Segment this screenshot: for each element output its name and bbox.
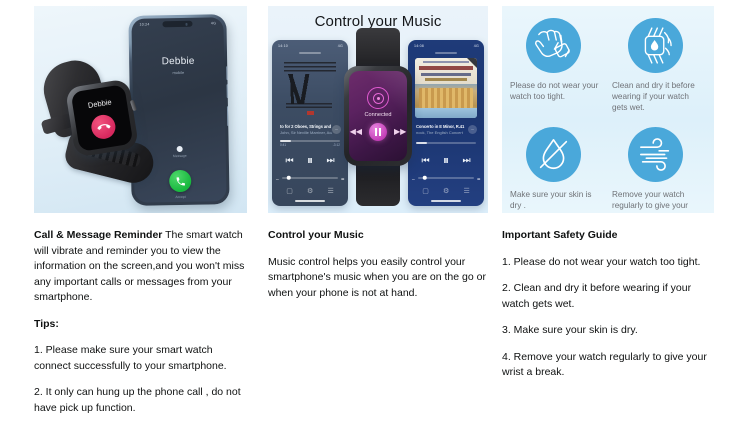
phone-left-times: 0:41 -3:12 [280,143,340,147]
phone-left-previous-button[interactable]: ⏮ [285,155,293,166]
lyrics-icon[interactable]: ⚙ [307,187,313,195]
decline-call-button[interactable] [90,113,117,140]
text-block-call-reminder: Call & Message Reminder The smart watch … [34,228,247,427]
phone-right-track-title: Concerto in E Minor, R.41 [416,124,468,129]
phone-right-pause-button[interactable]: ⏸ [443,153,449,168]
pause-icon [375,128,381,136]
accept-call-button[interactable] [169,170,191,192]
safety-tile-caption: Clean and dry it before wearing if your … [612,80,706,113]
safety-tile-grid: Please do not wear your watch too tight. [510,18,706,213]
watch-screen-music: Connected ◀◀ ▶▶ [349,71,407,161]
smartphone-mockup-right: 14:08 4G Concerto in E Minor, R.41 nock,… [408,40,484,206]
phone-left-time-elapsed: 0:41 [280,143,286,147]
phone-power-button[interactable] [227,106,229,126]
phone-right-previous-button[interactable]: ⏮ [421,155,429,166]
safety-tile-caption: Remove your watch regularly to give your… [612,189,706,213]
paragraph-lead: Call & Message Reminder The smart watch … [34,228,247,306]
smartwatch-mockup-music: Connected ◀◀ ▶▶ [344,28,412,206]
safety-tile-caption: Please do not wear your watch too tight. [510,80,604,102]
safety-tile-dry-skin: Make sure your skin is dry . [510,127,604,213]
image-panel-music-control: Control your Music 14:10 4G to for 2 Obo… [268,6,488,213]
watch-caller-name: Debbie [72,95,127,112]
heading-call-message-reminder: Call & Message Reminder [34,229,162,241]
sheet-grabber[interactable] [299,52,321,54]
safety-item-4: 4. Remove your watch regularly to give y… [502,350,714,381]
phone-left-status-time: 14:10 [278,44,288,48]
phone-right-status-time: 14:08 [414,44,424,48]
phone-volume-up-button[interactable] [226,66,228,80]
safety-tile-take-break: Remove your watch regularly to give your… [612,127,706,213]
album-art-line-2 [419,66,473,70]
hand-wearing-watch-icon [526,18,581,73]
album-art-red-mark [307,111,314,115]
album-art-bottom-text [286,103,332,109]
safety-item-1: 1. Please do not wear your watch too tig… [502,255,714,271]
queue-icon[interactable]: ☰ [328,187,334,195]
product-feature-page: 10:24 4G Debbie mobile Message Accept [0,0,737,414]
heading-important-safety-guide: Important Safety Guide [502,228,714,244]
watch-case: Debbie [65,78,139,157]
phone-notch [162,21,192,28]
volume-low-icon: ▁ [412,176,415,180]
album-art-line-4 [425,78,467,81]
volume-knob[interactable] [422,176,427,181]
volume-knob[interactable] [286,176,291,181]
phone-right-progress-bar[interactable] [416,142,476,144]
watch-connection-status: Connected [349,112,407,118]
phone-left-bottom-icons: ▢ ⚙ ☰ [272,187,348,195]
album-art-line-3 [421,73,471,76]
wind-airflow-glyph [628,127,683,182]
album-art-script [285,74,329,104]
album-art-line-1 [423,61,469,63]
phone-left-volume-slider[interactable]: ▁ ▃ [282,177,338,179]
phone-left-status-signal: 4G [338,44,343,48]
phone-right-volume-slider[interactable]: ▁ ▃ [418,177,474,179]
phone-left-pause-button[interactable]: ⏸ [307,153,313,168]
album-art-top-text [284,62,336,72]
safety-item-3: 3. Make sure your skin is dry. [502,323,714,339]
airplay-icon[interactable]: ▢ [422,187,429,195]
phone-decline-icon [96,119,111,134]
phone-right-transport-controls: ⏮ ⏸ ⏭ [408,153,484,168]
watch-case: Connected ◀◀ ▶▶ [344,66,412,166]
phone-right-status-signal: 4G [474,44,479,48]
phone-right-more-button[interactable]: ··· [468,125,477,134]
watch-crown-button[interactable] [130,100,137,112]
album-art-corner-fold [467,58,477,68]
album-art-right [415,58,477,118]
heading-control-your-music: Control your Music [268,228,488,244]
album-art-left [279,58,341,118]
no-water-drop-icon [526,127,581,182]
feature-column-important-safety-guide: Please do not wear your watch too tight. [502,0,714,414]
text-block-music-control: Control your Music Music control helps y… [268,228,488,312]
wind-airflow-icon [628,127,683,182]
phone-right-bottom-icons: ▢ ⚙ ☰ [408,187,484,195]
watch-water-drop-glyph [628,18,683,73]
phone-left-next-button[interactable]: ⏭ [326,155,334,166]
airplay-icon[interactable]: ▢ [286,187,293,195]
body-text-music: Music control helps you easily control y… [268,255,488,302]
album-art-water [415,108,477,118]
safety-item-2: 2. Clean and dry it before wearing if yo… [502,281,714,312]
smartwatch-mockup: Debbie [40,61,158,201]
tips-heading: Tips: [34,317,247,333]
watch-next-button[interactable]: ▶▶ [394,128,406,136]
hand-wearing-watch-glyph [526,18,581,73]
phone-status-time: 10:24 [139,23,149,27]
queue-icon[interactable]: ☰ [464,187,470,195]
tip-item-2: 2. It only can hung up the phone call , … [34,385,247,416]
watch-previous-button[interactable]: ◀◀ [350,128,362,136]
phone-left-track-title: to for 2 Oboes, Strings and Cor [280,124,332,129]
phone-right-next-button[interactable]: ⏭ [462,155,470,166]
sheet-grabber[interactable] [435,52,457,54]
feature-column-call-message-reminder: 10:24 4G Debbie mobile Message Accept [34,0,247,414]
phone-status-signal: 4G [211,21,217,25]
feature-column-control-your-music: Control your Music 14:10 4G to for 2 Obo… [268,0,488,414]
phone-left-track-artist: John, Sir Neville Marriner, Acade [280,130,332,135]
album-art-building [419,88,473,108]
watch-strap-bottom [356,162,400,206]
watch-water-drop-icon [628,18,683,73]
safety-tile-clean-and-dry: Clean and dry it before wearing if your … [612,18,706,113]
image-panel-safety-guide: Please do not wear your watch too tight. [502,6,714,213]
phone-handset-icon [175,175,186,186]
smartphone-mockup-left: 14:10 4G to for 2 Oboes, Strings and Cor… [272,40,348,206]
watch-transport-controls: ◀◀ ▶▶ [349,123,407,141]
camera-icon [185,23,188,26]
message-button[interactable] [177,146,183,152]
image-panel-call-reminder: 10:24 4G Debbie mobile Message Accept [34,6,247,213]
phone-left-progress-bar[interactable] [280,140,340,142]
phone-right-home-indicator [431,200,461,202]
volume-high-icon: ▃ [477,176,480,180]
music-target-icon [367,87,389,109]
volume-low-icon: ▁ [276,176,279,180]
phone-right-track-artist: nock, The English Concert [416,130,468,135]
safety-tile-no-tight-wear: Please do not wear your watch too tight. [510,18,604,113]
safety-tile-caption: Make sure your skin is dry . [510,189,604,211]
phone-left-transport-controls: ⏮ ⏸ ⏭ [272,153,348,168]
watch-pause-button[interactable] [369,123,387,141]
text-block-safety-guide: Important Safety Guide 1. Please do not … [502,228,714,392]
lyrics-icon[interactable]: ⚙ [443,187,449,195]
watch-screen: Debbie [71,84,134,152]
tip-item-1: 1. Please make sure your smart watch con… [34,343,247,374]
phone-volume-down-button[interactable] [227,84,229,98]
phone-left-more-button[interactable]: ··· [332,125,341,134]
phone-left-time-remaining: -3:12 [333,143,340,147]
no-water-drop-glyph [526,127,581,182]
phone-left-home-indicator [295,200,325,202]
